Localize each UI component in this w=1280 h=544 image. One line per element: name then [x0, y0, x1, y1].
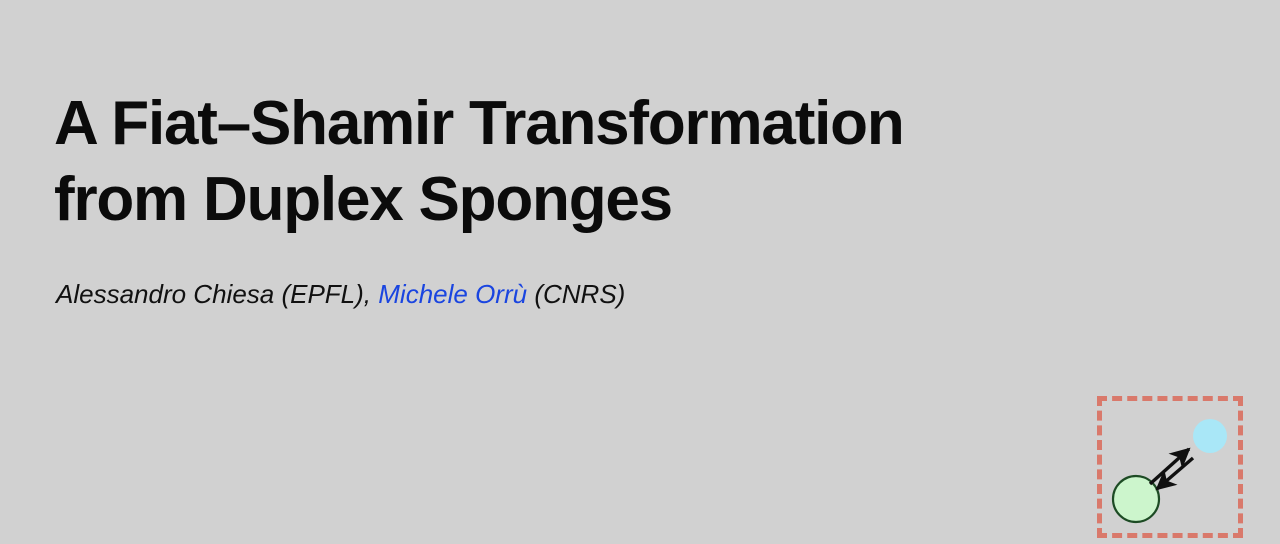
author-secondary-link[interactable]: Michele Orrù	[378, 279, 527, 309]
author-line: Alessandro Chiesa (EPFL), Michele Orrù (…	[56, 278, 625, 310]
diagram-svg	[1097, 396, 1243, 538]
author-primary: Alessandro Chiesa (EPFL),	[56, 279, 371, 309]
protocol-diagram	[1097, 396, 1243, 538]
title-line-2: from Duplex Sponges	[54, 162, 1114, 238]
slide-canvas: A Fiat–Shamir Transformation from Duplex…	[0, 0, 1280, 544]
page-title: A Fiat–Shamir Transformation from Duplex…	[54, 86, 1114, 238]
blue-node-circle	[1193, 419, 1227, 453]
author-secondary-affiliation: (CNRS)	[534, 279, 625, 309]
title-line-1: A Fiat–Shamir Transformation	[54, 86, 1114, 162]
